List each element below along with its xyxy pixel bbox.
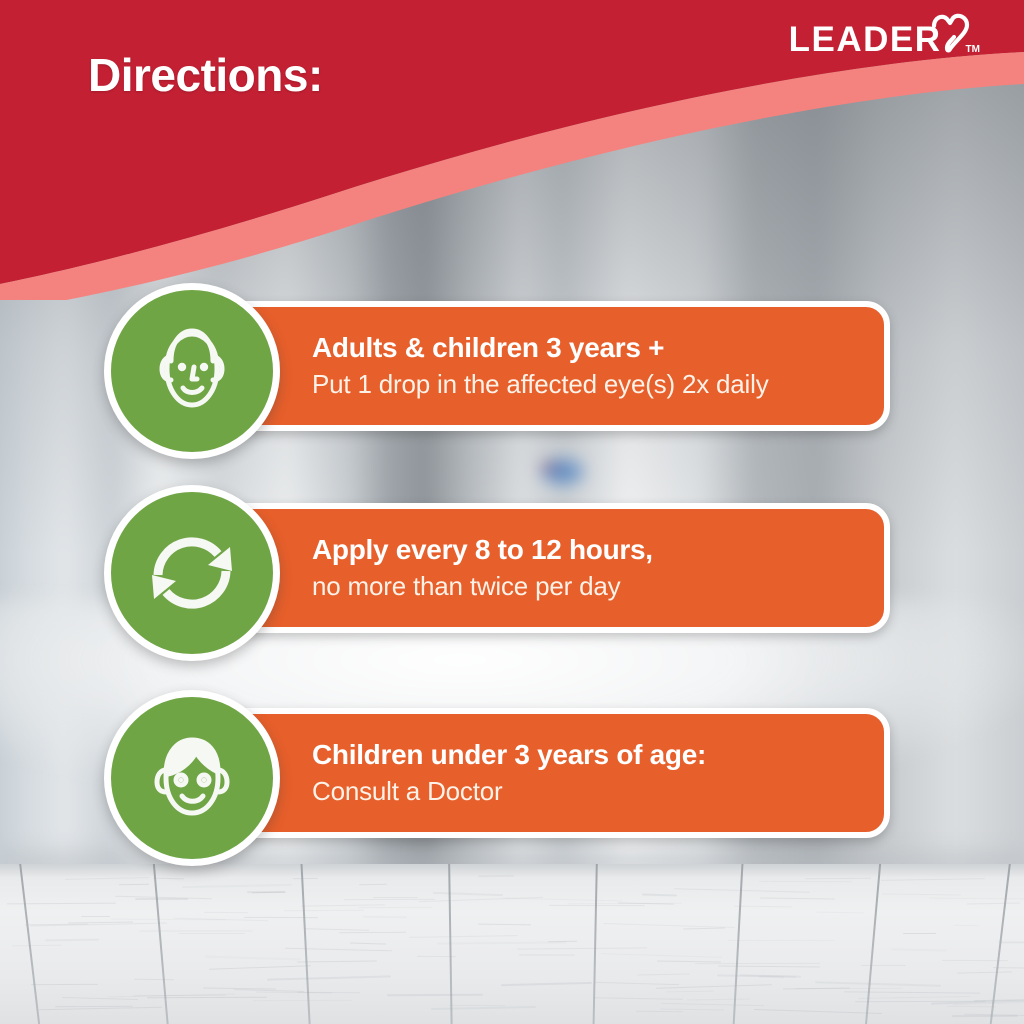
adult-face-icon bbox=[104, 283, 280, 459]
direction-row: Apply every 8 to 12 hours, no more than … bbox=[0, 485, 1024, 660]
direction-bar: Apply every 8 to 12 hours, no more than … bbox=[196, 503, 890, 633]
direction-title: Children under 3 years of age: bbox=[312, 739, 866, 771]
direction-bar: Adults & children 3 years + Put 1 drop i… bbox=[196, 301, 890, 431]
direction-row: Children under 3 years of age: Consult a… bbox=[0, 690, 1024, 865]
direction-subtitle: no more than twice per day bbox=[312, 571, 866, 602]
direction-row: Adults & children 3 years + Put 1 drop i… bbox=[0, 283, 1024, 458]
direction-title: Apply every 8 to 12 hours, bbox=[312, 534, 866, 566]
directions-poster: Directions: LEADER TM bbox=[0, 0, 1024, 1024]
direction-subtitle: Put 1 drop in the affected eye(s) 2x dai… bbox=[312, 369, 866, 400]
direction-title: Adults & children 3 years + bbox=[312, 332, 866, 364]
direction-subtitle: Consult a Doctor bbox=[312, 776, 866, 807]
child-face-icon bbox=[104, 690, 280, 866]
refresh-cycle-icon bbox=[104, 485, 280, 661]
direction-bar: Children under 3 years of age: Consult a… bbox=[196, 708, 890, 838]
directions-list: Adults & children 3 years + Put 1 drop i… bbox=[0, 0, 1024, 1024]
